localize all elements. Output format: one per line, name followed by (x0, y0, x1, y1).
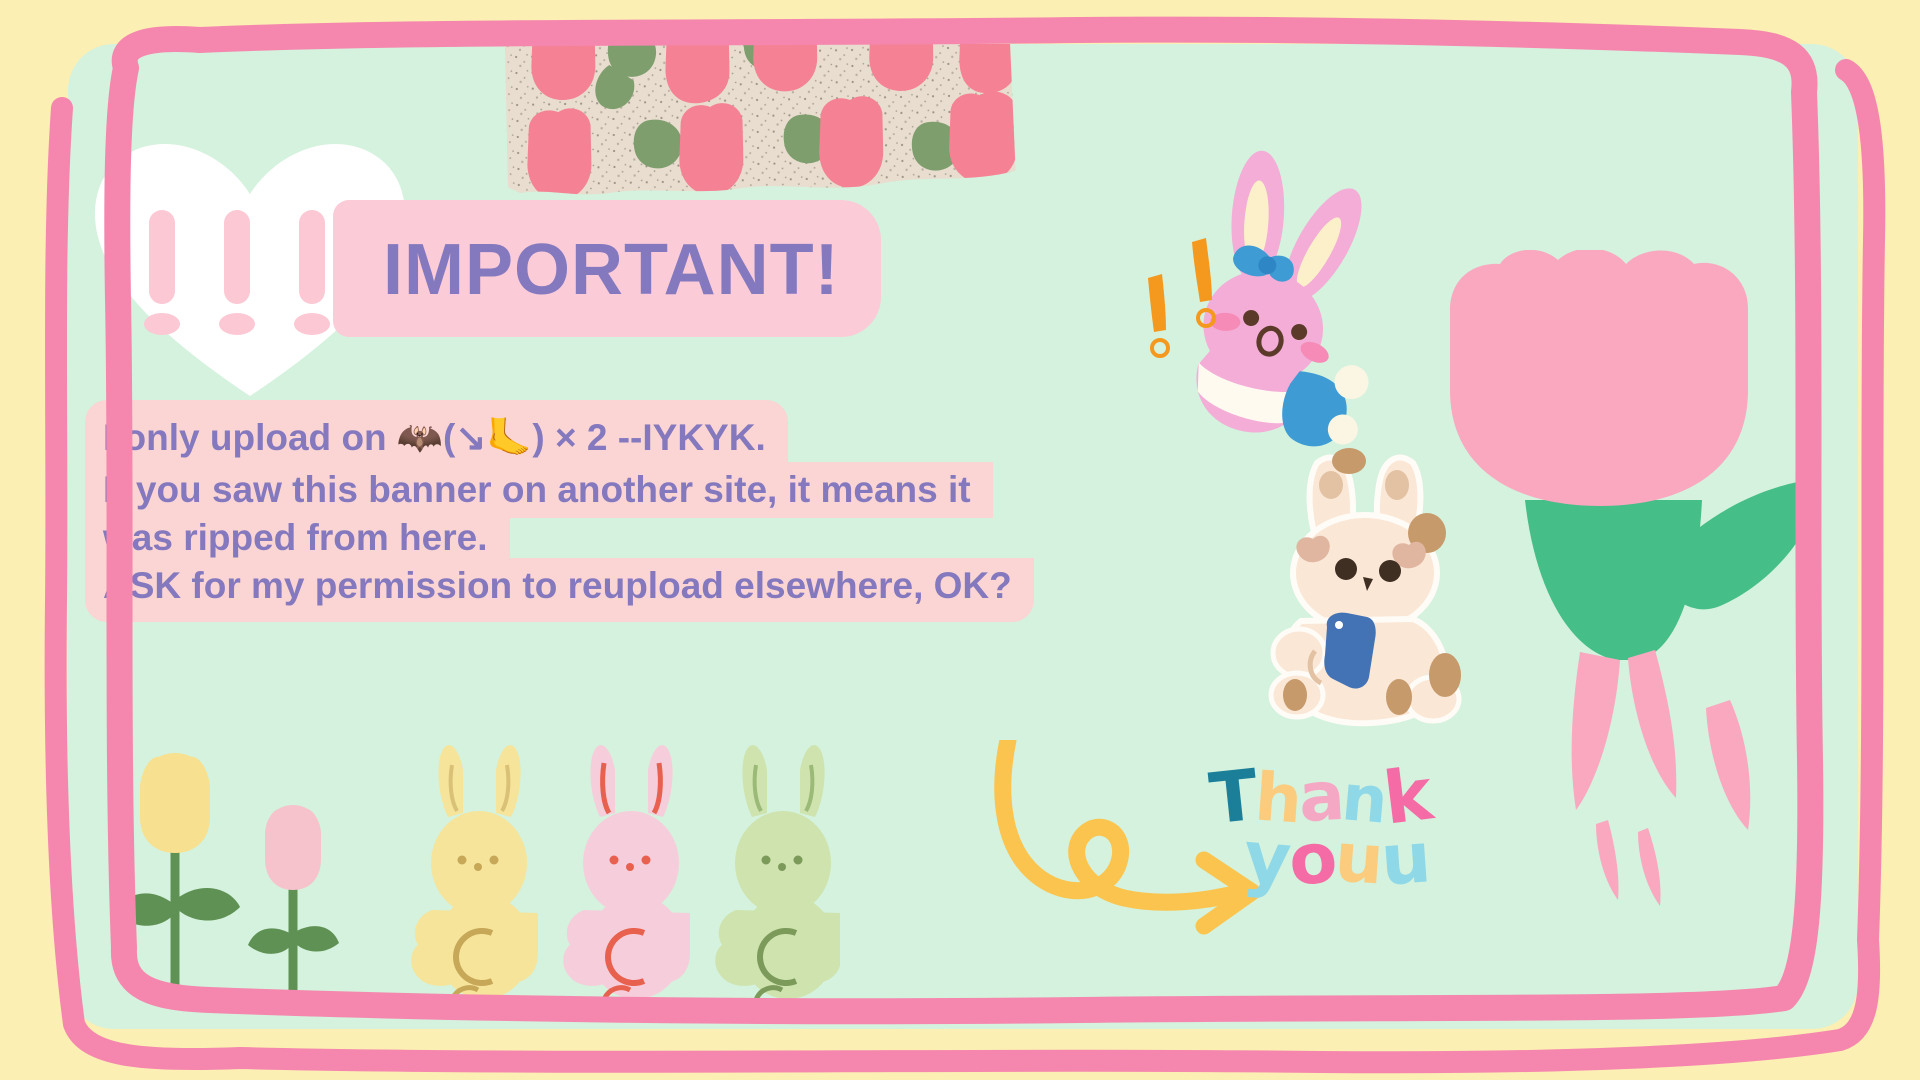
hand-drawn-frame (0, 0, 1920, 1080)
banner-canvas: Thank youu (0, 0, 1920, 1080)
